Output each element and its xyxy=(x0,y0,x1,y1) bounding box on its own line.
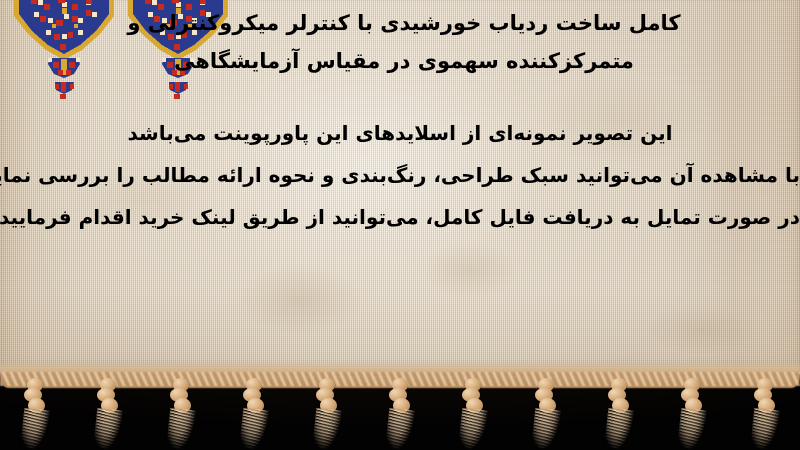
title-line-1: کامل ساخت ردیاب خورشیدی با کنترلر میکروک… xyxy=(0,4,800,42)
slide-title: کامل ساخت ردیاب خورشیدی با کنترلر میکروک… xyxy=(0,4,800,80)
fringe-tassel xyxy=(385,378,415,450)
tassel-strands xyxy=(458,408,488,450)
tassel-strands xyxy=(531,408,561,450)
title-line-2: متمرکزکننده سهموی در مقیاس آزمایشگاهی xyxy=(0,42,800,80)
tassel-strands xyxy=(312,408,342,450)
body-line-2: با مشاهده آن می‌توانید سبک طراحی، رنگ‌بن… xyxy=(0,154,800,196)
fringe-tassel xyxy=(239,378,269,450)
text-layer: کامل ساخت ردیاب خورشیدی با کنترلر میکروک… xyxy=(0,0,800,374)
tassel-strands xyxy=(166,408,196,450)
body-line-1: این تصویر نمونه‌ای از اسلایدهای این پاور… xyxy=(0,112,800,154)
fringe-tassel xyxy=(166,378,196,450)
fringe-tassel xyxy=(750,378,780,450)
fringe-tassel xyxy=(20,378,50,450)
fringe-tassel xyxy=(677,378,707,450)
fringe-tassel xyxy=(604,378,634,450)
tassel-strands xyxy=(750,408,780,450)
tassel-strands xyxy=(677,408,707,450)
tassel-strands xyxy=(93,408,123,450)
fringe-tassel xyxy=(93,378,123,450)
fringe-row xyxy=(0,378,800,450)
tassel-strands xyxy=(239,408,269,450)
fringe-tassel xyxy=(312,378,342,450)
fringe-tassel xyxy=(531,378,561,450)
body-line-3: در صورت تمایل به دریافت فایل کامل، می‌تو… xyxy=(0,196,800,238)
tassel-strands xyxy=(604,408,634,450)
fringe-tassel xyxy=(458,378,488,450)
slide-body: این تصویر نمونه‌ای از اسلایدهای این پاور… xyxy=(0,112,800,238)
tassel-strands xyxy=(385,408,415,450)
tassel-strands xyxy=(20,408,50,450)
slide-canvas: کامل ساخت ردیاب خورشیدی با کنترلر میکروک… xyxy=(0,0,800,450)
